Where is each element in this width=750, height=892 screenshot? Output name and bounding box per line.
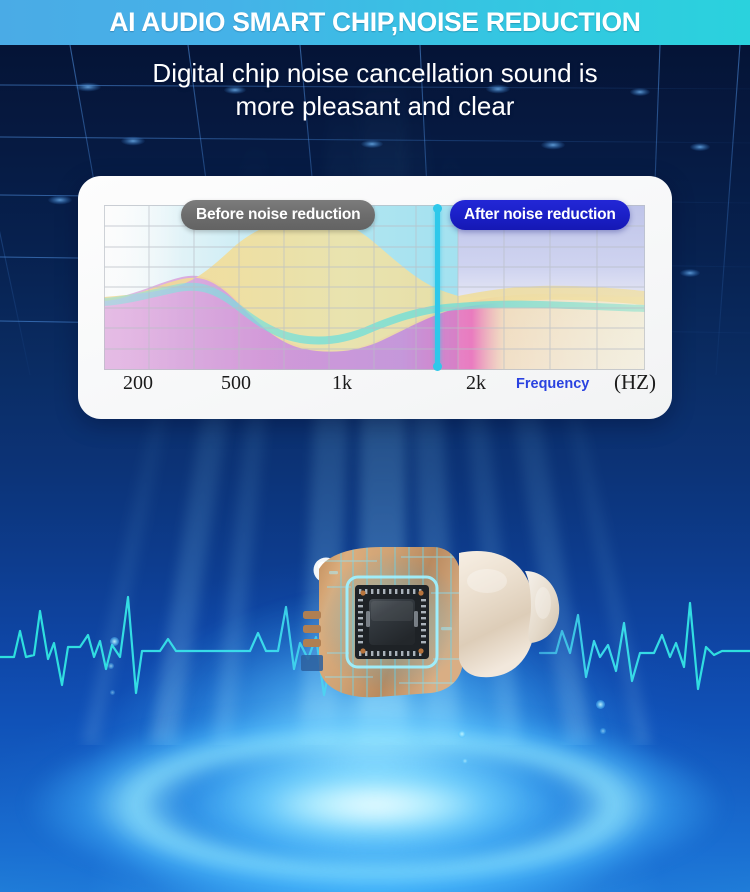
badge-before-noise-reduction: Before noise reduction (181, 200, 375, 230)
boundary-cap-bottom-icon (433, 362, 442, 371)
axis-tick-500: 500 (221, 372, 251, 395)
subtitle: Digital chip noise cancellation sound is… (0, 57, 750, 123)
noise-reduction-boundary-line (435, 208, 440, 367)
axis-label-frequency: Frequency (516, 376, 589, 392)
device-dome (459, 551, 536, 677)
boundary-cap-top-icon (433, 204, 442, 213)
promo-image-root: AI AUDIO SMART CHIP,NOISE REDUCTION Digi… (0, 0, 750, 892)
badge-after-noise-reduction: After noise reduction (450, 200, 630, 230)
axis-tick-1k: 1k (332, 372, 352, 395)
subtitle-line-1: Digital chip noise cancellation sound is (0, 57, 750, 90)
device-connector-fins (303, 611, 321, 647)
noise-reduction-chart-card: Before noise reduction After noise reduc… (78, 176, 672, 419)
chart-x-axis: 200 500 1k 2k Frequency (HZ) (104, 372, 660, 406)
axis-tick-200: 200 (123, 372, 153, 395)
subtitle-line-2: more pleasant and clear (0, 90, 750, 123)
axis-unit-hz: (HZ) (614, 370, 656, 395)
axis-tick-2k: 2k (466, 372, 486, 395)
hearing-aid-device (281, 527, 591, 727)
page-title: AI AUDIO SMART CHIP,NOISE REDUCTION (109, 7, 640, 38)
header-bar: AI AUDIO SMART CHIP,NOISE REDUCTION (0, 0, 750, 45)
